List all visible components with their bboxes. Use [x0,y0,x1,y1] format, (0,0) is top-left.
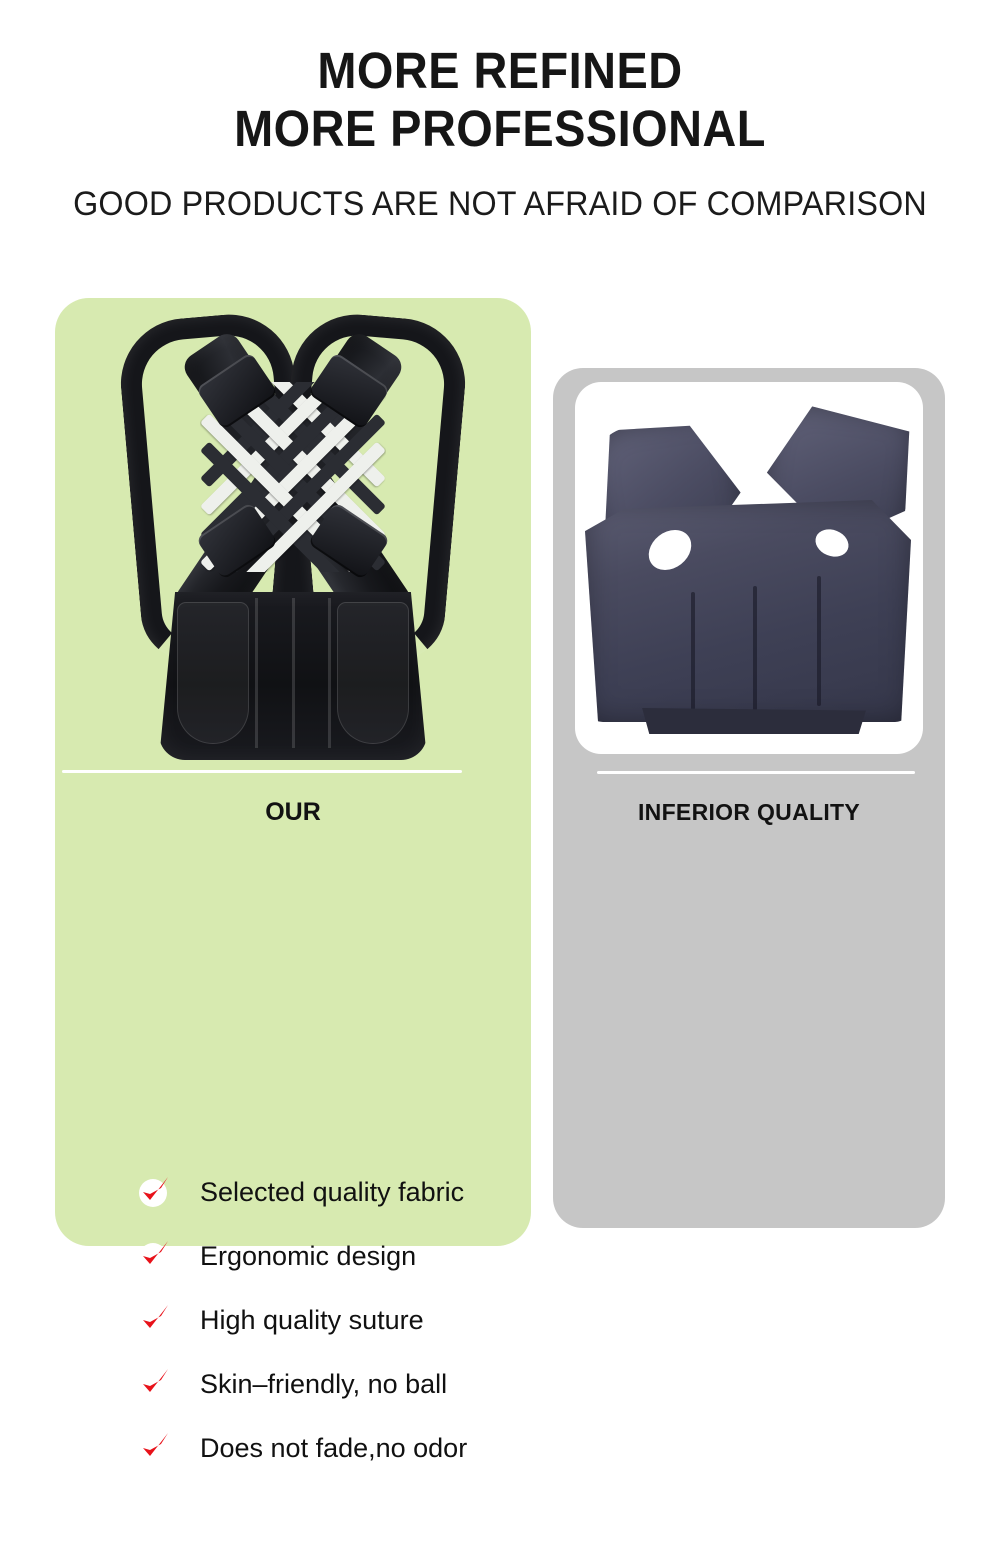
comparison-panel-bad: X Poor quality fabrics X No patent, no e… [553,368,945,1228]
red-check-icon [137,1367,171,1401]
good-product-image [55,302,531,768]
page-title-line-1: MORE REFINED [40,42,960,100]
list-item-label: High quality suture [200,1305,424,1336]
list-item: Skin–friendly, no ball [137,1352,467,1416]
divider-good [62,770,462,773]
divider-bad [597,771,915,774]
page-subtitle: GOOD PRODUCTS ARE NOT AFRAID OF COMPARIS… [25,184,975,224]
red-check-icon [137,1239,171,1273]
list-item-label: Selected quality fabric [200,1177,464,1208]
bad-product-image [575,382,923,754]
list-item-label: Skin–friendly, no ball [200,1369,447,1400]
list-item: Ergonomic design [137,1224,467,1288]
header-block: MORE REFINED MORE PROFESSIONAL GOOD PROD… [0,0,1000,224]
vest-body [585,500,911,722]
red-check-icon [137,1431,171,1465]
list-item: Selected quality fabric [137,1160,467,1224]
vest-hem [635,708,873,734]
waist-band [159,592,427,760]
red-check-icon [137,1175,171,1209]
section-title-good: OUR [55,798,531,827]
inferior-vest-illustration [581,404,917,734]
list-item: High quality suture [137,1288,467,1352]
list-item: Does not fade,no odor [137,1416,467,1480]
good-feature-list: Selected quality fabric Ergonomic design… [137,1160,467,1480]
list-item-label: Ergonomic design [200,1241,416,1272]
section-title-bad: INFERIOR QUALITY [553,799,945,826]
posture-brace-illustration [128,310,458,760]
red-check-icon [137,1303,171,1337]
list-item-label: Does not fade,no odor [200,1433,467,1464]
page-title-line-2: MORE PROFESSIONAL [40,100,960,158]
